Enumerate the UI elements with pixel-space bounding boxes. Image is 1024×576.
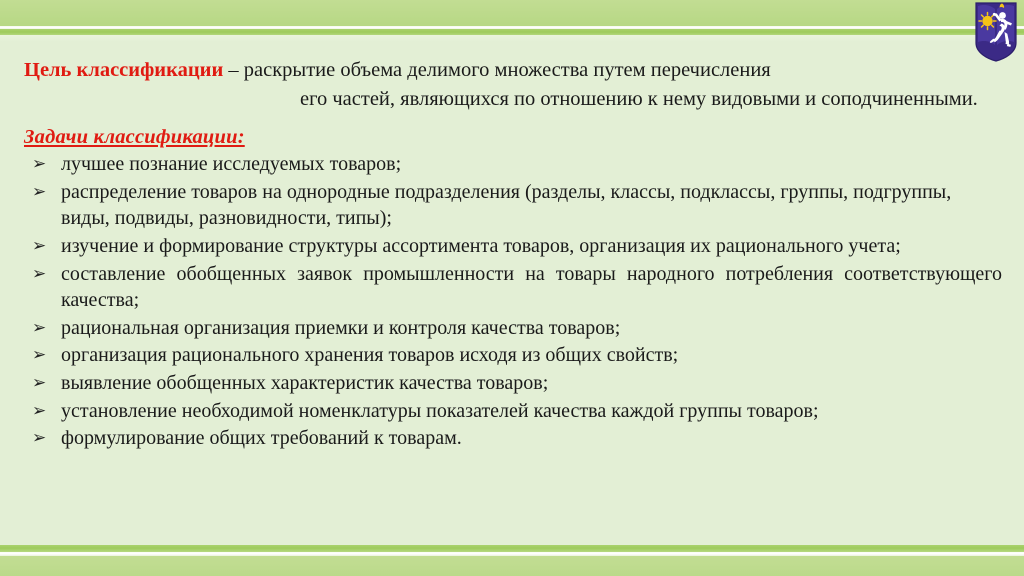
list-item: ➢ распределение товаров на однородные по…: [24, 179, 1002, 232]
list-item: ➢ формулирование общих требований к това…: [24, 425, 1002, 452]
arrowhead-bullet-icon: ➢: [32, 399, 46, 425]
arrowhead-bullet-icon: ➢: [32, 180, 46, 206]
list-item-label: распределение товаров на однородные подр…: [61, 179, 1002, 232]
slide-content: Цель классификации – раскрытие объема де…: [0, 42, 1024, 542]
top-decorative-band: [0, 0, 1024, 26]
tasks-heading: Задачи классификации:: [24, 126, 1002, 149]
bottom-decorative-band: [0, 556, 1024, 576]
list-item-label: выявление обобщенных характеристик качес…: [61, 370, 1002, 397]
arrowhead-bullet-icon: ➢: [32, 316, 46, 342]
list-item-label: организация рационального хранения товар…: [61, 342, 1002, 369]
tasks-list: ➢ лучшее познание исследуемых товаров; ➢…: [24, 151, 1002, 452]
aim-term: Цель классификации: [24, 59, 223, 81]
list-item: ➢ изучение и формирование структуры ассо…: [24, 233, 1002, 260]
list-item-label: формулирование общих требований к товара…: [61, 425, 1002, 452]
slide: Цель классификации – раскрытие объема де…: [0, 0, 1024, 576]
list-item-label: составление обобщенных заявок промышленн…: [61, 261, 1002, 314]
arrowhead-bullet-icon: ➢: [32, 371, 46, 397]
aim-definition-start: – раскрытие объема делимого множества пу…: [223, 59, 770, 81]
list-item-label: лучшее познание исследуемых товаров;: [61, 151, 1002, 178]
list-item: ➢ установление необходимой номенклатуры …: [24, 398, 1002, 425]
arrowhead-bullet-icon: ➢: [32, 234, 46, 260]
list-item: ➢ организация рационального хранения тов…: [24, 342, 1002, 369]
list-item-label: изучение и формирование структуры ассорт…: [61, 233, 1002, 260]
arrowhead-bullet-icon: ➢: [32, 152, 46, 178]
arrowhead-bullet-icon: ➢: [32, 262, 46, 288]
list-item-label: установление необходимой номенклатуры по…: [61, 398, 1002, 425]
aim-paragraph: Цель классификации – раскрытие объема де…: [24, 56, 1002, 114]
arrowhead-bullet-icon: ➢: [32, 343, 46, 369]
list-item: ➢ составление обобщенных заявок промышле…: [24, 261, 1002, 314]
list-item: ➢ рациональная организация приемки и кон…: [24, 315, 1002, 342]
list-item-label: рациональная организация приемки и контр…: [61, 315, 1002, 342]
top-fade-gradient: [0, 35, 1024, 42]
list-item: ➢ лучшее познание исследуемых товаров;: [24, 151, 1002, 178]
university-emblem-logo: [972, 1, 1020, 63]
emblem-icon: [972, 1, 1020, 63]
aim-continuation: его частей, являющихся по отношению к не…: [300, 85, 994, 114]
list-item: ➢ выявление обобщенных характеристик кач…: [24, 370, 1002, 397]
aim-first-line: Цель классификации – раскрытие объема де…: [24, 56, 994, 85]
arrowhead-bullet-icon: ➢: [32, 426, 46, 452]
bottom-accent-divider: [0, 545, 1024, 552]
